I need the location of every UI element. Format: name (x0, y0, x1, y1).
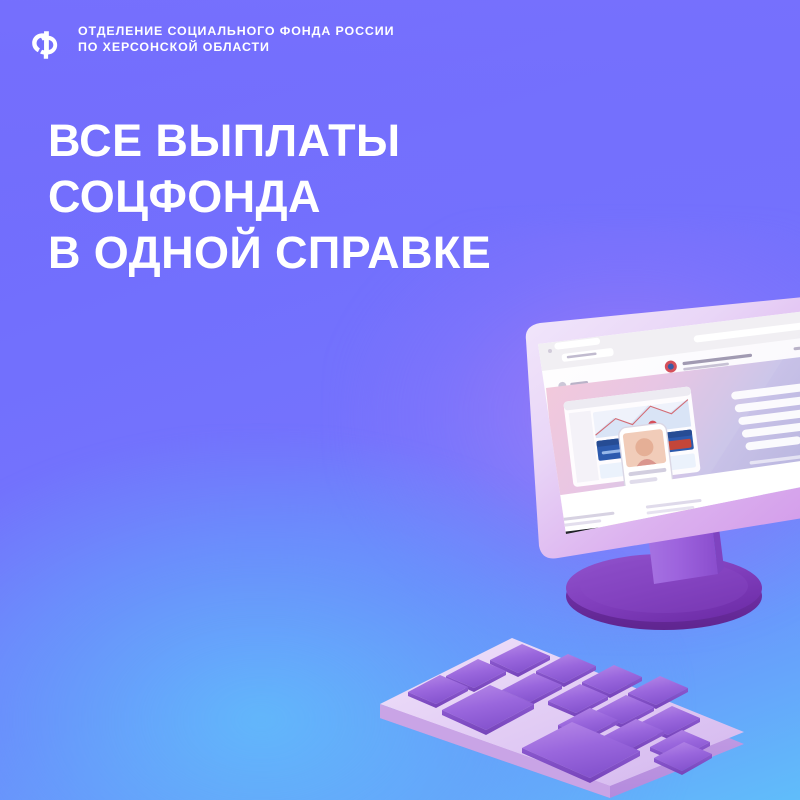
sfr-monogram-logo-icon (24, 25, 64, 65)
desktop-monitor-illustration (496, 296, 800, 616)
page-title: ВСЕ ВЫПЛАТЫ СОЦФОНДА В ОДНОЙ СПРАВКЕ (48, 113, 491, 281)
poster-canvas: ОТДЕЛЕНИЕ СОЦИАЛЬНОГО ФОНДА РОССИИ ПО ХЕ… (0, 0, 800, 800)
brand-title: ОТДЕЛЕНИЕ СОЦИАЛЬНОГО ФОНДА РОССИИ ПО ХЕ… (78, 24, 394, 55)
monitor-body (508, 296, 800, 564)
keyboard-illustration (372, 626, 752, 800)
brand-header: ОТДЕЛЕНИЕ СОЦИАЛЬНОГО ФОНДА РОССИИ ПО ХЕ… (24, 24, 394, 65)
